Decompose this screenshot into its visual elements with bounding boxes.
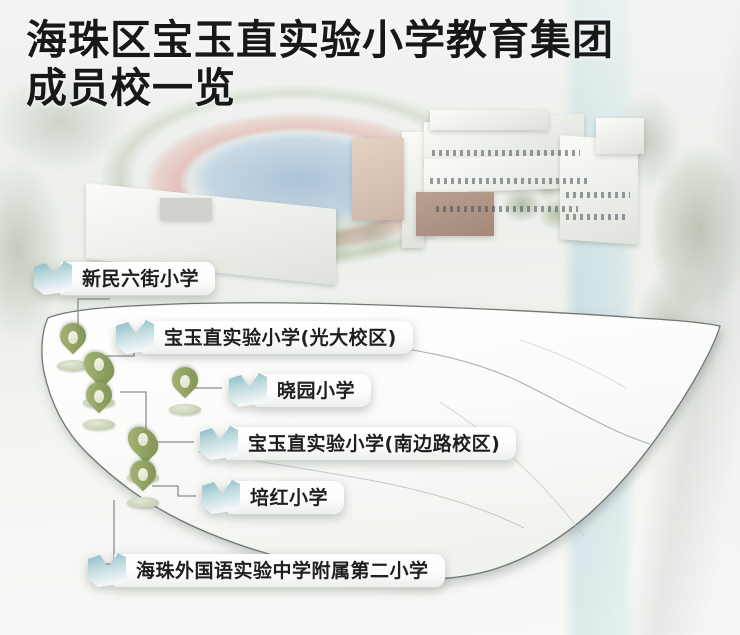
map-pin-stack-secondary[interactable] [82,382,116,430]
school-name: 宝玉直实验小学(南边路校区) [248,435,500,454]
pin-hole [68,331,78,344]
school-name: 宝玉直实验小学(光大校区) [164,329,397,348]
pin-hole [180,375,190,388]
map-pin-xiaoyuan[interactable] [168,367,202,415]
ribbon-flag-icon [84,551,130,591]
label-plate: 培红小学 [228,481,344,515]
ribbon-flag-icon [112,318,158,358]
map-pin-peihong[interactable] [126,460,160,508]
school-name: 晓园小学 [277,382,355,401]
label-plate: 海珠外国语实验中学附属第二小学 [114,554,445,588]
pin-hole [138,468,148,481]
ribbon-flag-icon [198,478,244,518]
pin-hole [94,358,104,371]
school-label-baoyuzhi-nanbianlu[interactable]: 宝玉直实验小学(南边路校区) [196,424,516,464]
infographic-canvas: 海珠区宝玉直实验小学教育集团 成员校一览 [0,0,740,635]
label-plate: 宝玉直实验小学(光大校区) [142,321,413,355]
ribbon-flag-icon [196,424,242,464]
school-label-peihong[interactable]: 培红小学 [198,478,344,518]
school-label-xiaoyuan[interactable]: 晓园小学 [225,371,371,411]
school-label-haizhu-waiguoyu-fushu-2[interactable]: 海珠外国语实验中学附属第二小学 [84,551,445,591]
school-label-baoyuzhi-guangda[interactable]: 宝玉直实验小学(光大校区) [112,318,413,358]
page-title: 海珠区宝玉直实验小学教育集团 成员校一览 [26,16,716,112]
pin-base [83,419,115,430]
school-name: 新民六街小学 [82,270,199,289]
school-name: 培红小学 [250,489,328,508]
pin-base [169,404,201,415]
connector-line-1 [78,299,110,326]
school-name: 海珠外国语实验中学附属第二小学 [136,562,429,581]
label-plate: 晓园小学 [255,374,371,408]
label-plate: 新民六街小学 [60,262,215,296]
ribbon-flag-icon [225,371,271,411]
pin-hole [138,433,148,446]
pin-base [127,497,159,508]
ribbon-flag-icon [30,259,76,299]
school-label-xinmin-liujie[interactable]: 新民六街小学 [30,259,215,299]
pin-hole [94,390,104,403]
label-plate: 宝玉直实验小学(南边路校区) [226,427,516,461]
